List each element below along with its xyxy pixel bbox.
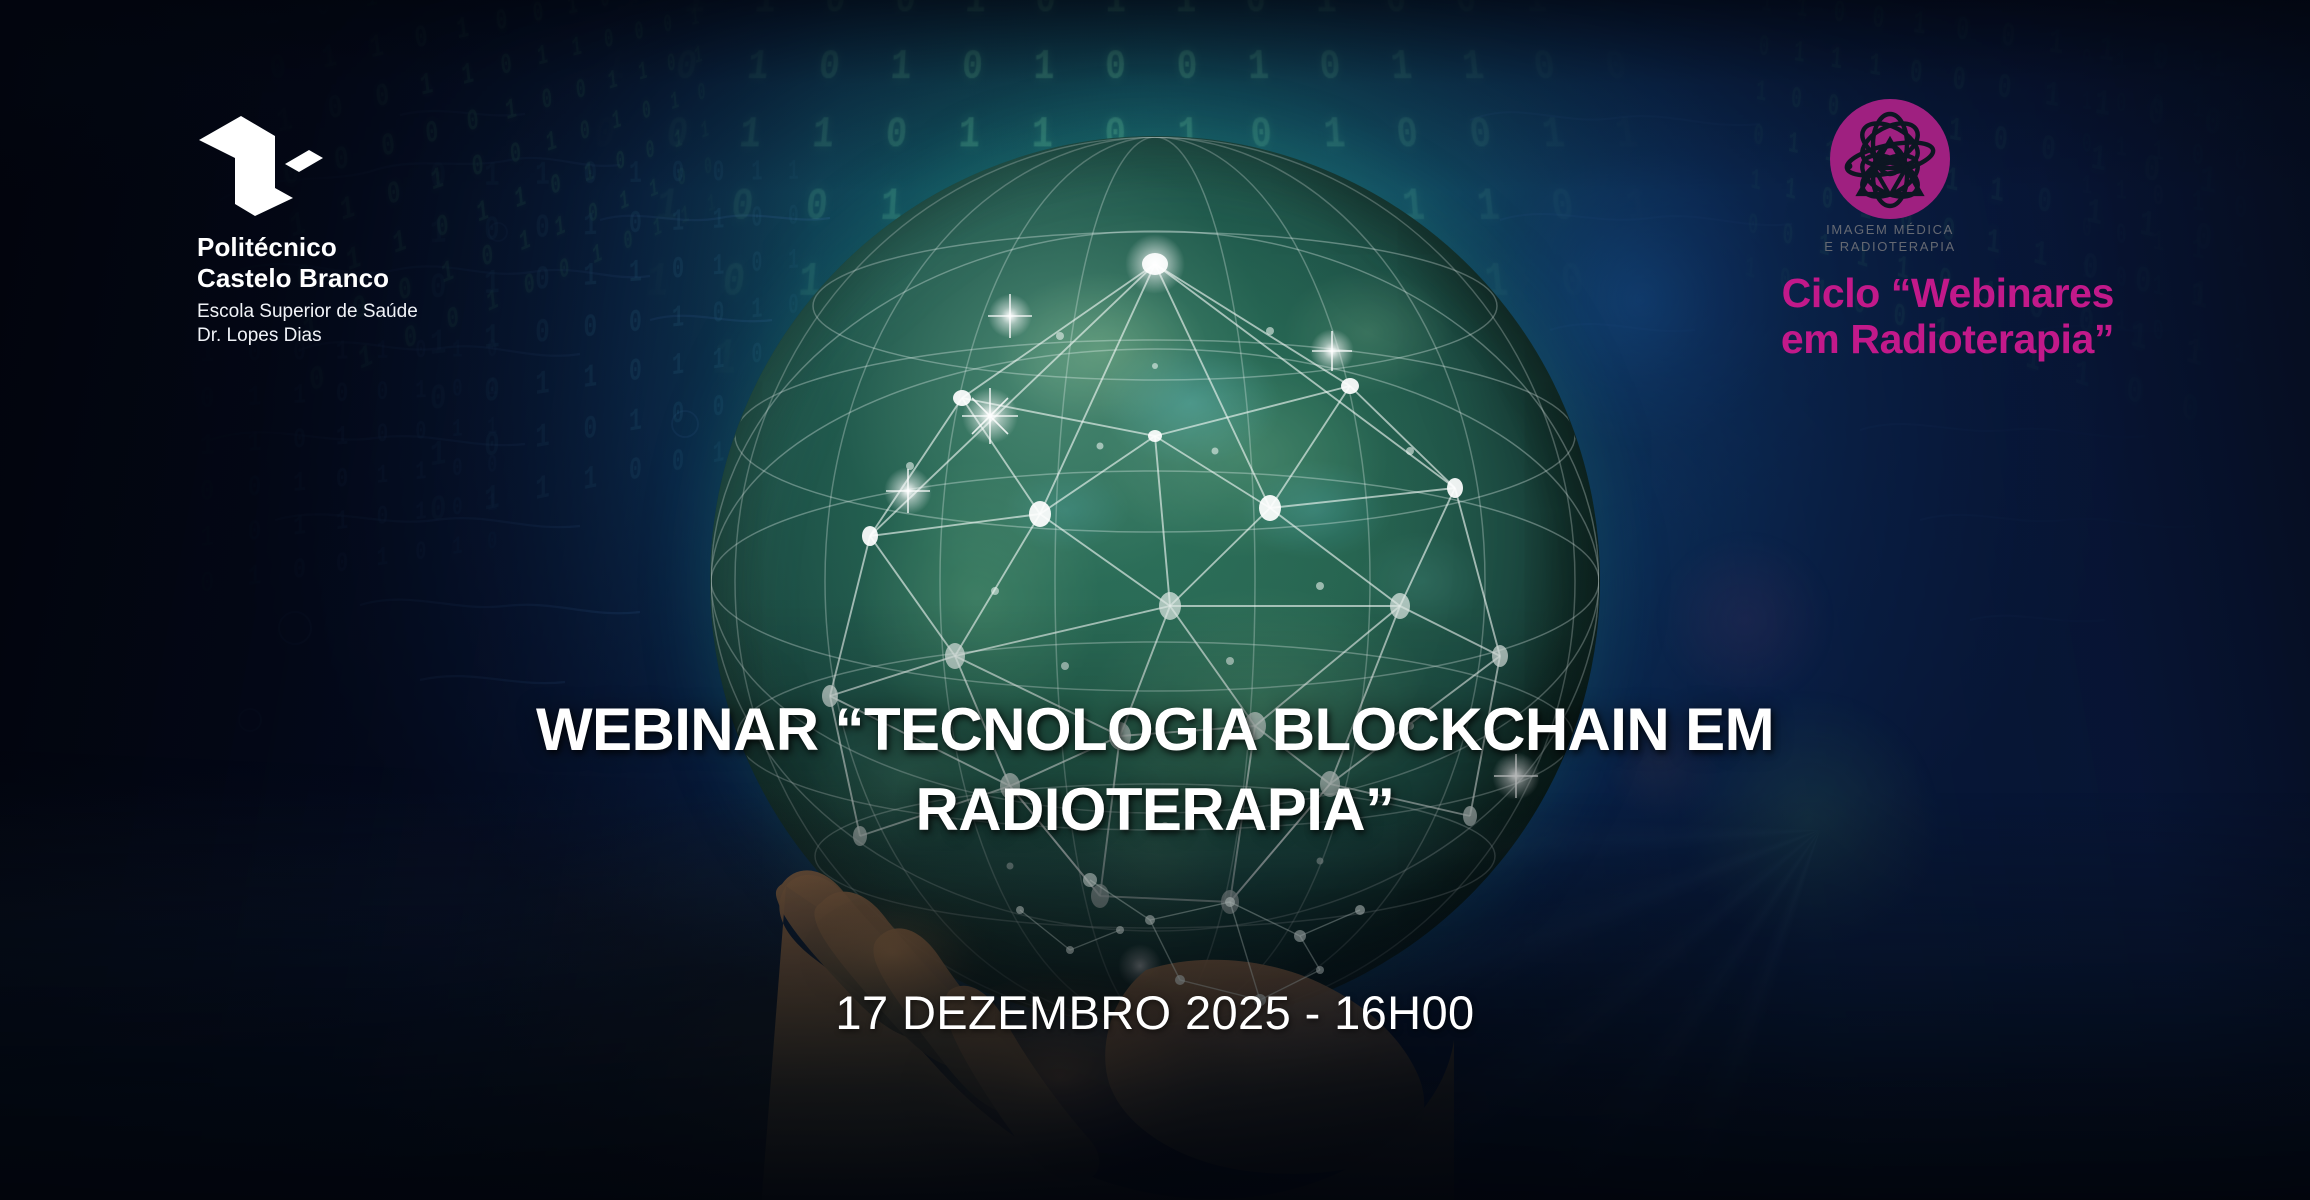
series-title: Ciclo “Webinares em Radioterapia”: [1660, 271, 2120, 363]
institution-name: Politécnico Castelo Branco: [197, 232, 517, 294]
imr-logo-row: [1660, 98, 2120, 220]
institution-school: Escola Superior de Saúde Dr. Lopes Dias: [197, 300, 517, 346]
poster-canvas: 1 0 1 1 1 0 0 1 1 1 1 0 0 1 1 0 1 0 0 1 …: [0, 0, 2310, 1200]
webinar-headline: WEBINAR “TECNOLOGIA BLOCKCHAIN EM RADIOT…: [330, 690, 1980, 851]
imagem-medica-radioterapia-atom-icon: [1829, 98, 1951, 220]
ipcb-isometric-mark-icon: [197, 108, 323, 216]
institution-school-line1: Escola Superior de Saúde: [197, 300, 517, 323]
imr-caption-line1: IMAGEM MÉDICA: [1660, 222, 2120, 239]
institution-school-line2: Dr. Lopes Dias: [197, 324, 517, 347]
series-branding-block: IMAGEM MÉDICA E RADIOTERAPIA Ciclo “Webi…: [1660, 98, 2120, 363]
imr-caption-line2: E RADIOTERAPIA: [1660, 239, 2120, 256]
imr-logo-caption: IMAGEM MÉDICA E RADIOTERAPIA: [1660, 222, 2120, 255]
series-title-line1: Ciclo “Webinares: [1660, 271, 2114, 317]
ipcb-logo-block: Politécnico Castelo Branco Escola Superi…: [197, 108, 517, 347]
institution-name-line2: Castelo Branco: [197, 263, 517, 294]
webinar-datetime: 17 DEZEMBRO 2025 - 16H00: [330, 985, 1980, 1040]
series-title-line2: em Radioterapia”: [1660, 317, 2114, 363]
institution-name-line1: Politécnico: [197, 232, 517, 263]
